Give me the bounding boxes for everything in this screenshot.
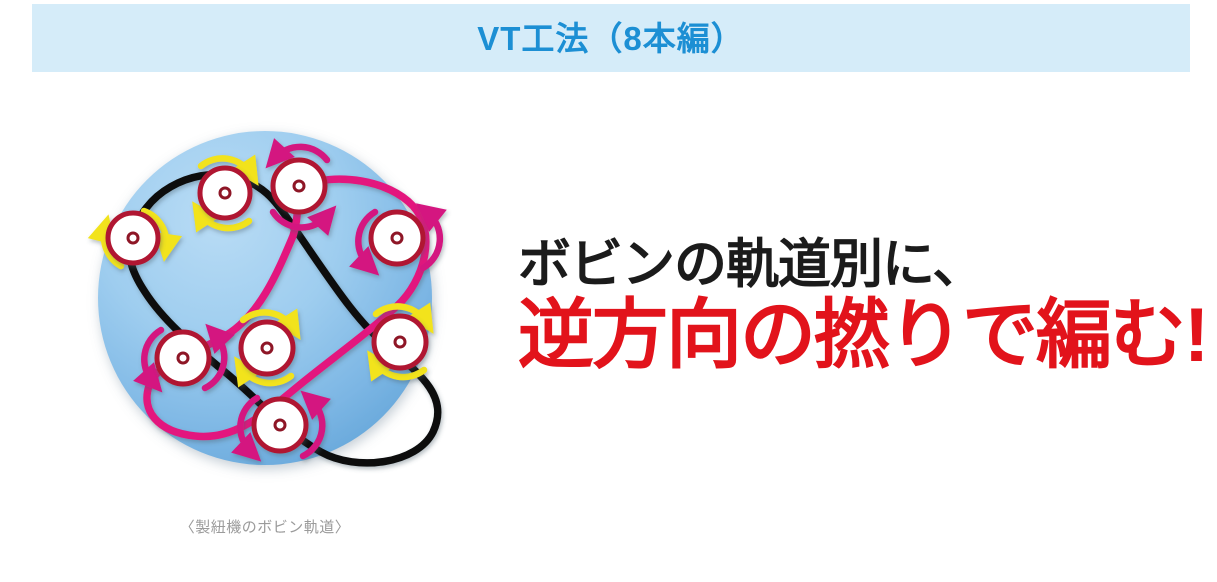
diagram-caption: 〈製紐機のボビン軌道〉 <box>45 516 485 537</box>
bobbin-bottom-mid <box>241 322 293 374</box>
header-band: VT工法（8本編） <box>32 4 1190 72</box>
bobbin-bottom-low <box>254 399 306 451</box>
page-title: VT工法（8本編） <box>477 22 745 55</box>
headline-line-primary: ボビンの軌道別に、 <box>518 238 1208 292</box>
bobbin-upper-left <box>108 213 158 263</box>
bobbin-top-mid-left <box>200 168 250 218</box>
headline-line-emphasis: 逆方向の撚りで編む! <box>518 296 1208 375</box>
bobbin-lower-left <box>157 332 209 384</box>
bobbin-lower-right <box>374 316 426 368</box>
diagram-panel: 〈製紐機のボビン軌道〉 <box>45 80 495 580</box>
braiding-machine-bobbin-track-diagram <box>45 80 495 520</box>
bobbin-top-mid-right <box>273 160 325 212</box>
bobbin-upper-right <box>371 212 423 264</box>
headline-block: ボビンの軌道別に、 逆方向の撚りで編む! <box>518 238 1208 375</box>
